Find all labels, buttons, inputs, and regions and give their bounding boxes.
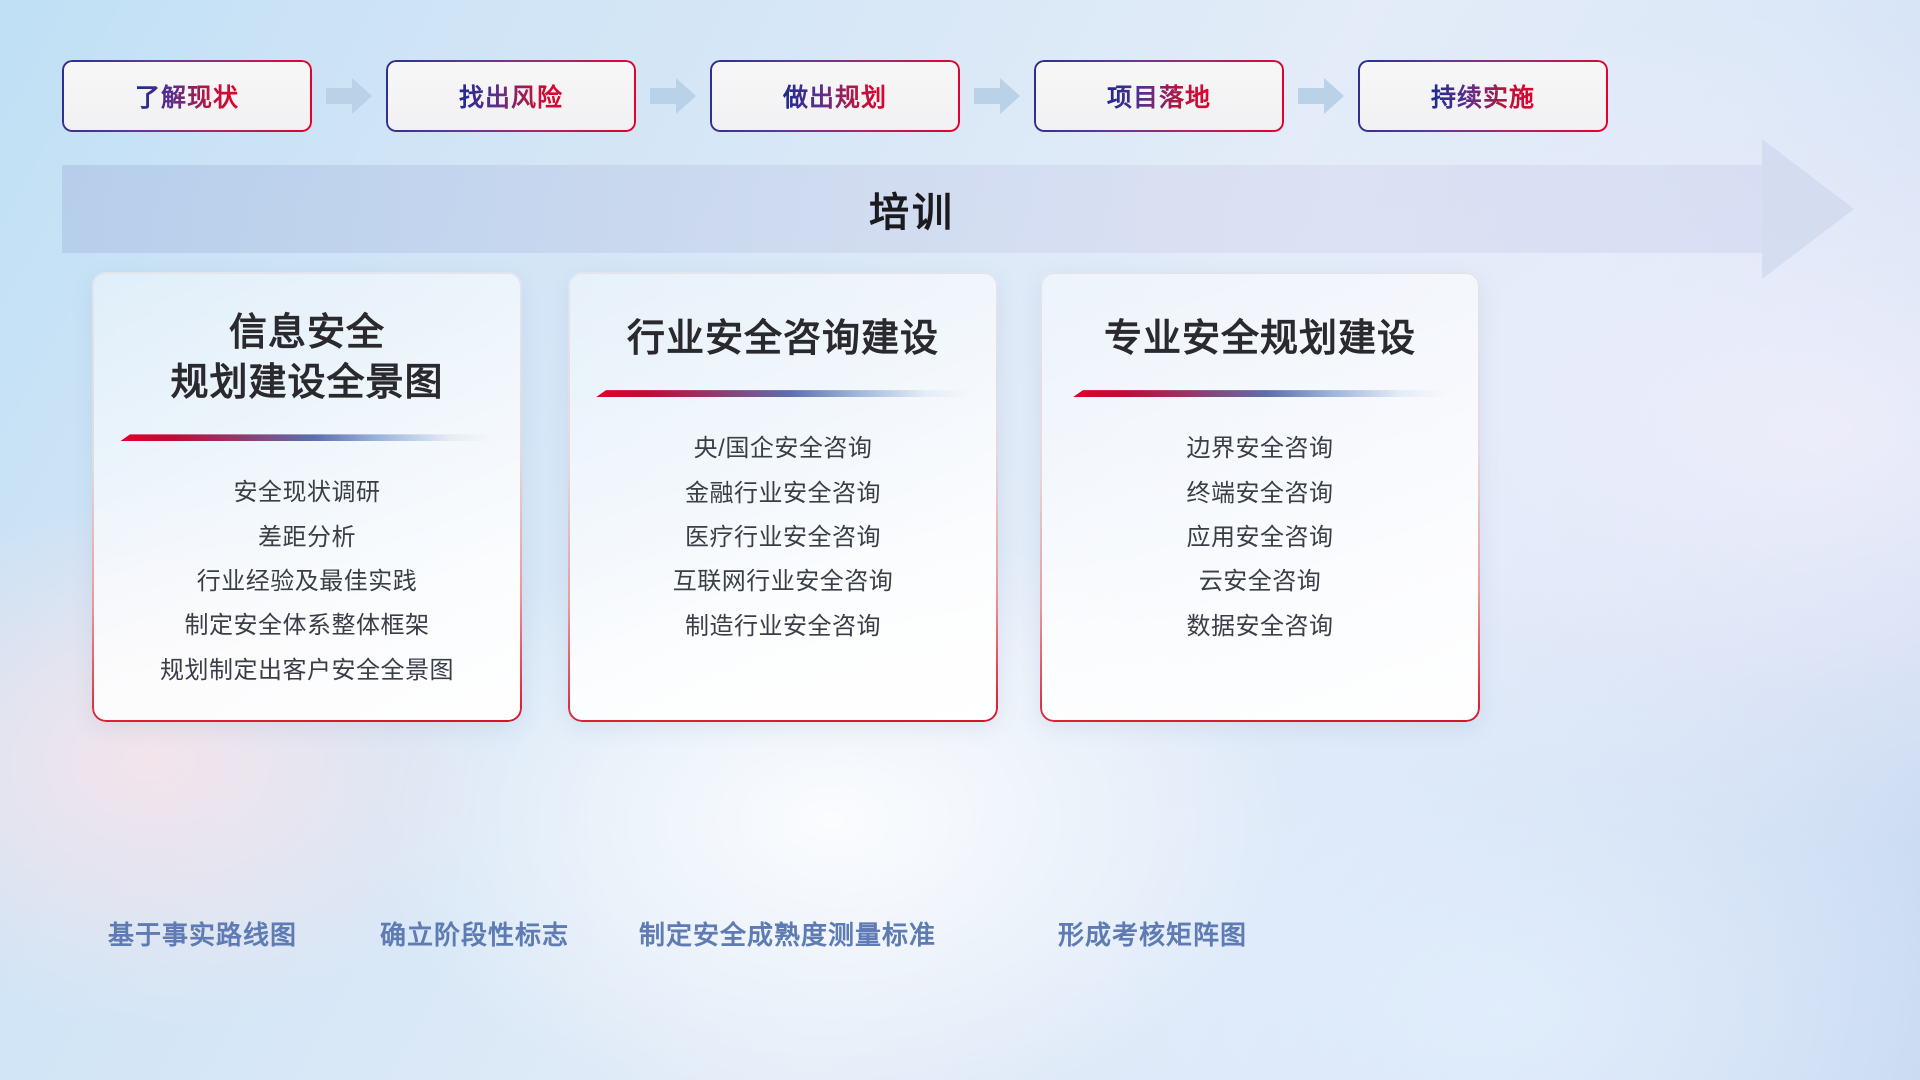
- process-step-label: 了解现状: [135, 78, 239, 114]
- right-arrow-icon: [1297, 77, 1345, 115]
- list-item: 云安全咨询: [1040, 560, 1480, 604]
- list-item: 终端安全咨询: [1040, 472, 1480, 516]
- bottom-label-roadmap: 基于事实路线图: [108, 915, 297, 952]
- process-step-2[interactable]: 找出风险: [386, 60, 636, 132]
- card-title: 行业安全咨询建设: [568, 314, 998, 364]
- card-information-security-blueprint[interactable]: 信息安全 规划建设全景图 安全现状调研 差距分析 行业经验及最佳实践 制定安全体…: [92, 272, 522, 722]
- right-arrow-icon: [973, 77, 1021, 115]
- process-step-label: 做出规划: [783, 78, 887, 114]
- card-divider: [596, 390, 970, 397]
- list-item: 数据安全咨询: [1040, 605, 1480, 649]
- list-item: 规划制定出客户安全全景图: [92, 649, 522, 693]
- process-step-label: 项目落地: [1107, 78, 1211, 114]
- card-industry-security-consulting[interactable]: 行业安全咨询建设 央/国企安全咨询 金融行业安全咨询 医疗行业安全咨询 互联网行…: [568, 272, 998, 722]
- list-item: 安全现状调研: [92, 471, 522, 515]
- banner-title: 培训: [62, 165, 1762, 253]
- list-item: 制定安全体系整体框架: [92, 604, 522, 648]
- bottom-label-maturity-standard: 制定安全成熟度测量标准: [639, 915, 936, 952]
- process-step-label: 持续实施: [1431, 78, 1535, 114]
- list-item: 互联网行业安全咨询: [568, 560, 998, 604]
- process-step-3[interactable]: 做出规划: [710, 60, 960, 132]
- process-step-label: 找出风险: [459, 78, 563, 114]
- process-step-1[interactable]: 了解现状: [62, 60, 312, 132]
- card-divider: [1073, 390, 1447, 397]
- list-item: 金融行业安全咨询: [568, 472, 998, 516]
- card-item-list: 边界安全咨询 终端安全咨询 应用安全咨询 云安全咨询 数据安全咨询: [1040, 427, 1480, 649]
- list-item: 边界安全咨询: [1040, 427, 1480, 471]
- list-item: 医疗行业安全咨询: [568, 516, 998, 560]
- card-item-list: 安全现状调研 差距分析 行业经验及最佳实践 制定安全体系整体框架 规划制定出客户…: [92, 471, 522, 693]
- banner-arrowhead-icon: [1762, 139, 1854, 284]
- bottom-labels-row: 基于事实路线图 确立阶段性标志 制定安全成熟度测量标准 形成考核矩阵图: [0, 915, 1920, 965]
- right-arrow-icon: [649, 77, 697, 115]
- list-item: 应用安全咨询: [1040, 516, 1480, 560]
- bottom-label-milestones: 确立阶段性标志: [380, 915, 569, 952]
- process-step-5[interactable]: 持续实施: [1358, 60, 1608, 132]
- right-arrow-icon: [325, 77, 373, 115]
- card-divider: [120, 434, 494, 441]
- list-item: 差距分析: [92, 516, 522, 560]
- list-item: 行业经验及最佳实践: [92, 560, 522, 604]
- process-steps-row: 了解现状 找出风险 做出规划 项目落地 持续实施: [62, 58, 1862, 134]
- list-item: 央/国企安全咨询: [568, 427, 998, 471]
- cards-row: 信息安全 规划建设全景图 安全现状调研 差距分析 行业经验及最佳实践 制定安全体…: [0, 272, 1920, 722]
- training-banner: 培训: [62, 165, 1852, 253]
- card-professional-security-planning[interactable]: 专业安全规划建设 边界安全咨询 终端安全咨询 应用安全咨询 云安全咨询 数据安全…: [1040, 272, 1480, 722]
- card-title: 信息安全 规划建设全景图: [92, 308, 522, 408]
- card-item-list: 央/国企安全咨询 金融行业安全咨询 医疗行业安全咨询 互联网行业安全咨询 制造行…: [568, 427, 998, 649]
- process-step-4[interactable]: 项目落地: [1034, 60, 1284, 132]
- list-item: 制造行业安全咨询: [568, 605, 998, 649]
- bottom-label-assessment-matrix: 形成考核矩阵图: [1058, 915, 1247, 952]
- card-title: 专业安全规划建设: [1040, 314, 1480, 364]
